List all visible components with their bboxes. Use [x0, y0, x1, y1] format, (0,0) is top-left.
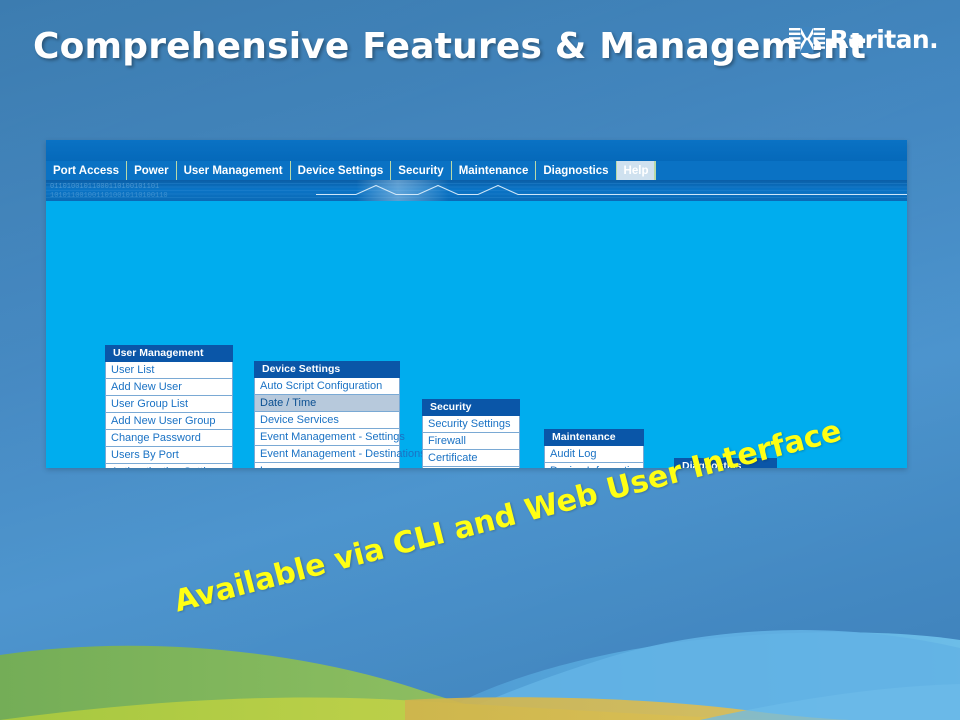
web-ui-banner-strip: 01101001011000110100101101 1010110010011… — [46, 180, 907, 201]
web-ui-panel: Port AccessPowerUser ManagementDevice Se… — [46, 140, 907, 468]
dropdown-item-list: Audit LogDevice InformationBackup / Rest… — [544, 446, 644, 468]
dropdown-title: Security — [422, 399, 520, 416]
dropdown-maintenance[interactable]: Maintenance Audit LogDevice InformationB… — [544, 429, 644, 468]
dropdown-item[interactable]: Banner — [422, 467, 520, 468]
dropdown-item[interactable]: User Group List — [105, 396, 233, 413]
menu-tab-maintenance[interactable]: Maintenance — [451, 161, 537, 180]
dropdown-item[interactable]: Certificate — [422, 450, 520, 467]
dropdown-item[interactable]: Add New User Group — [105, 413, 233, 430]
menu-tab-help[interactable]: Help — [616, 161, 657, 180]
dropdown-device-settings[interactable]: Device Settings Auto Script Configuratio… — [254, 361, 400, 468]
dropdown-item[interactable]: Add New User — [105, 379, 233, 396]
slide-header: Comprehensive Features & Management Rari… — [0, 0, 960, 100]
dropdown-item-list: Auto Script ConfigurationDate / TimeDevi… — [254, 378, 400, 468]
dropdown-item[interactable]: Auto Script Configuration — [254, 378, 400, 395]
raritan-bowtie-icon — [789, 27, 825, 53]
web-ui-topbar — [46, 140, 907, 161]
dropdown-item[interactable]: Audit Log — [544, 446, 644, 463]
slide-canvas: Comprehensive Features & Management Rari… — [0, 0, 960, 720]
dropdown-title: Device Settings — [254, 361, 400, 378]
dropdown-security[interactable]: Security Security SettingsFirewallCertif… — [422, 399, 520, 468]
raritan-logo: Raritan. — [789, 27, 938, 53]
svg-text:1010110010011010010110100110: 1010110010011010010110100110 — [50, 192, 168, 200]
dropdown-item-list: User ListAdd New UserUser Group ListAdd … — [105, 362, 233, 468]
dropdown-item[interactable]: Firewall — [422, 433, 520, 450]
svg-text:01101001011000110100101101: 01101001011000110100101101 — [50, 183, 159, 191]
dropdown-item[interactable]: Language — [254, 463, 400, 468]
dropdown-item[interactable]: Device Services — [254, 412, 400, 429]
web-ui-menubar[interactable]: Port AccessPowerUser ManagementDevice Se… — [46, 161, 907, 181]
page-title: Comprehensive Features & Management — [33, 26, 866, 67]
dropdown-item[interactable]: Event Management - Destinations — [254, 446, 400, 463]
dropdown-item[interactable]: Users By Port — [105, 447, 233, 464]
menubar-filler — [654, 161, 907, 180]
dropdown-item[interactable]: Security Settings — [422, 416, 520, 433]
dropdown-item[interactable]: Event Management - Settings — [254, 429, 400, 446]
dropdown-item[interactable]: Change Password — [105, 430, 233, 447]
dropdown-title: Maintenance — [544, 429, 644, 446]
menu-tab-security[interactable]: Security — [390, 161, 451, 180]
menu-tab-diagnostics[interactable]: Diagnostics — [535, 161, 616, 180]
dropdown-item[interactable]: User List — [105, 362, 233, 379]
dropdown-item[interactable]: Date / Time — [254, 395, 400, 412]
menu-tab-power[interactable]: Power — [126, 161, 177, 180]
menu-tab-device-settings[interactable]: Device Settings — [290, 161, 392, 180]
dropdown-item-list: Security SettingsFirewallCertificateBann… — [422, 416, 520, 468]
dropdown-user-management[interactable]: User Management User ListAdd New UserUse… — [105, 345, 233, 468]
menu-tab-port-access[interactable]: Port Access — [46, 161, 127, 180]
logo-wordmark: Raritan. — [830, 27, 938, 53]
banner-artwork: 01101001011000110100101101 1010110010011… — [46, 180, 907, 201]
dropdown-title: User Management — [105, 345, 233, 362]
dropdown-item[interactable]: Authentication Settings — [105, 464, 233, 468]
menu-tab-user-management[interactable]: User Management — [176, 161, 291, 180]
